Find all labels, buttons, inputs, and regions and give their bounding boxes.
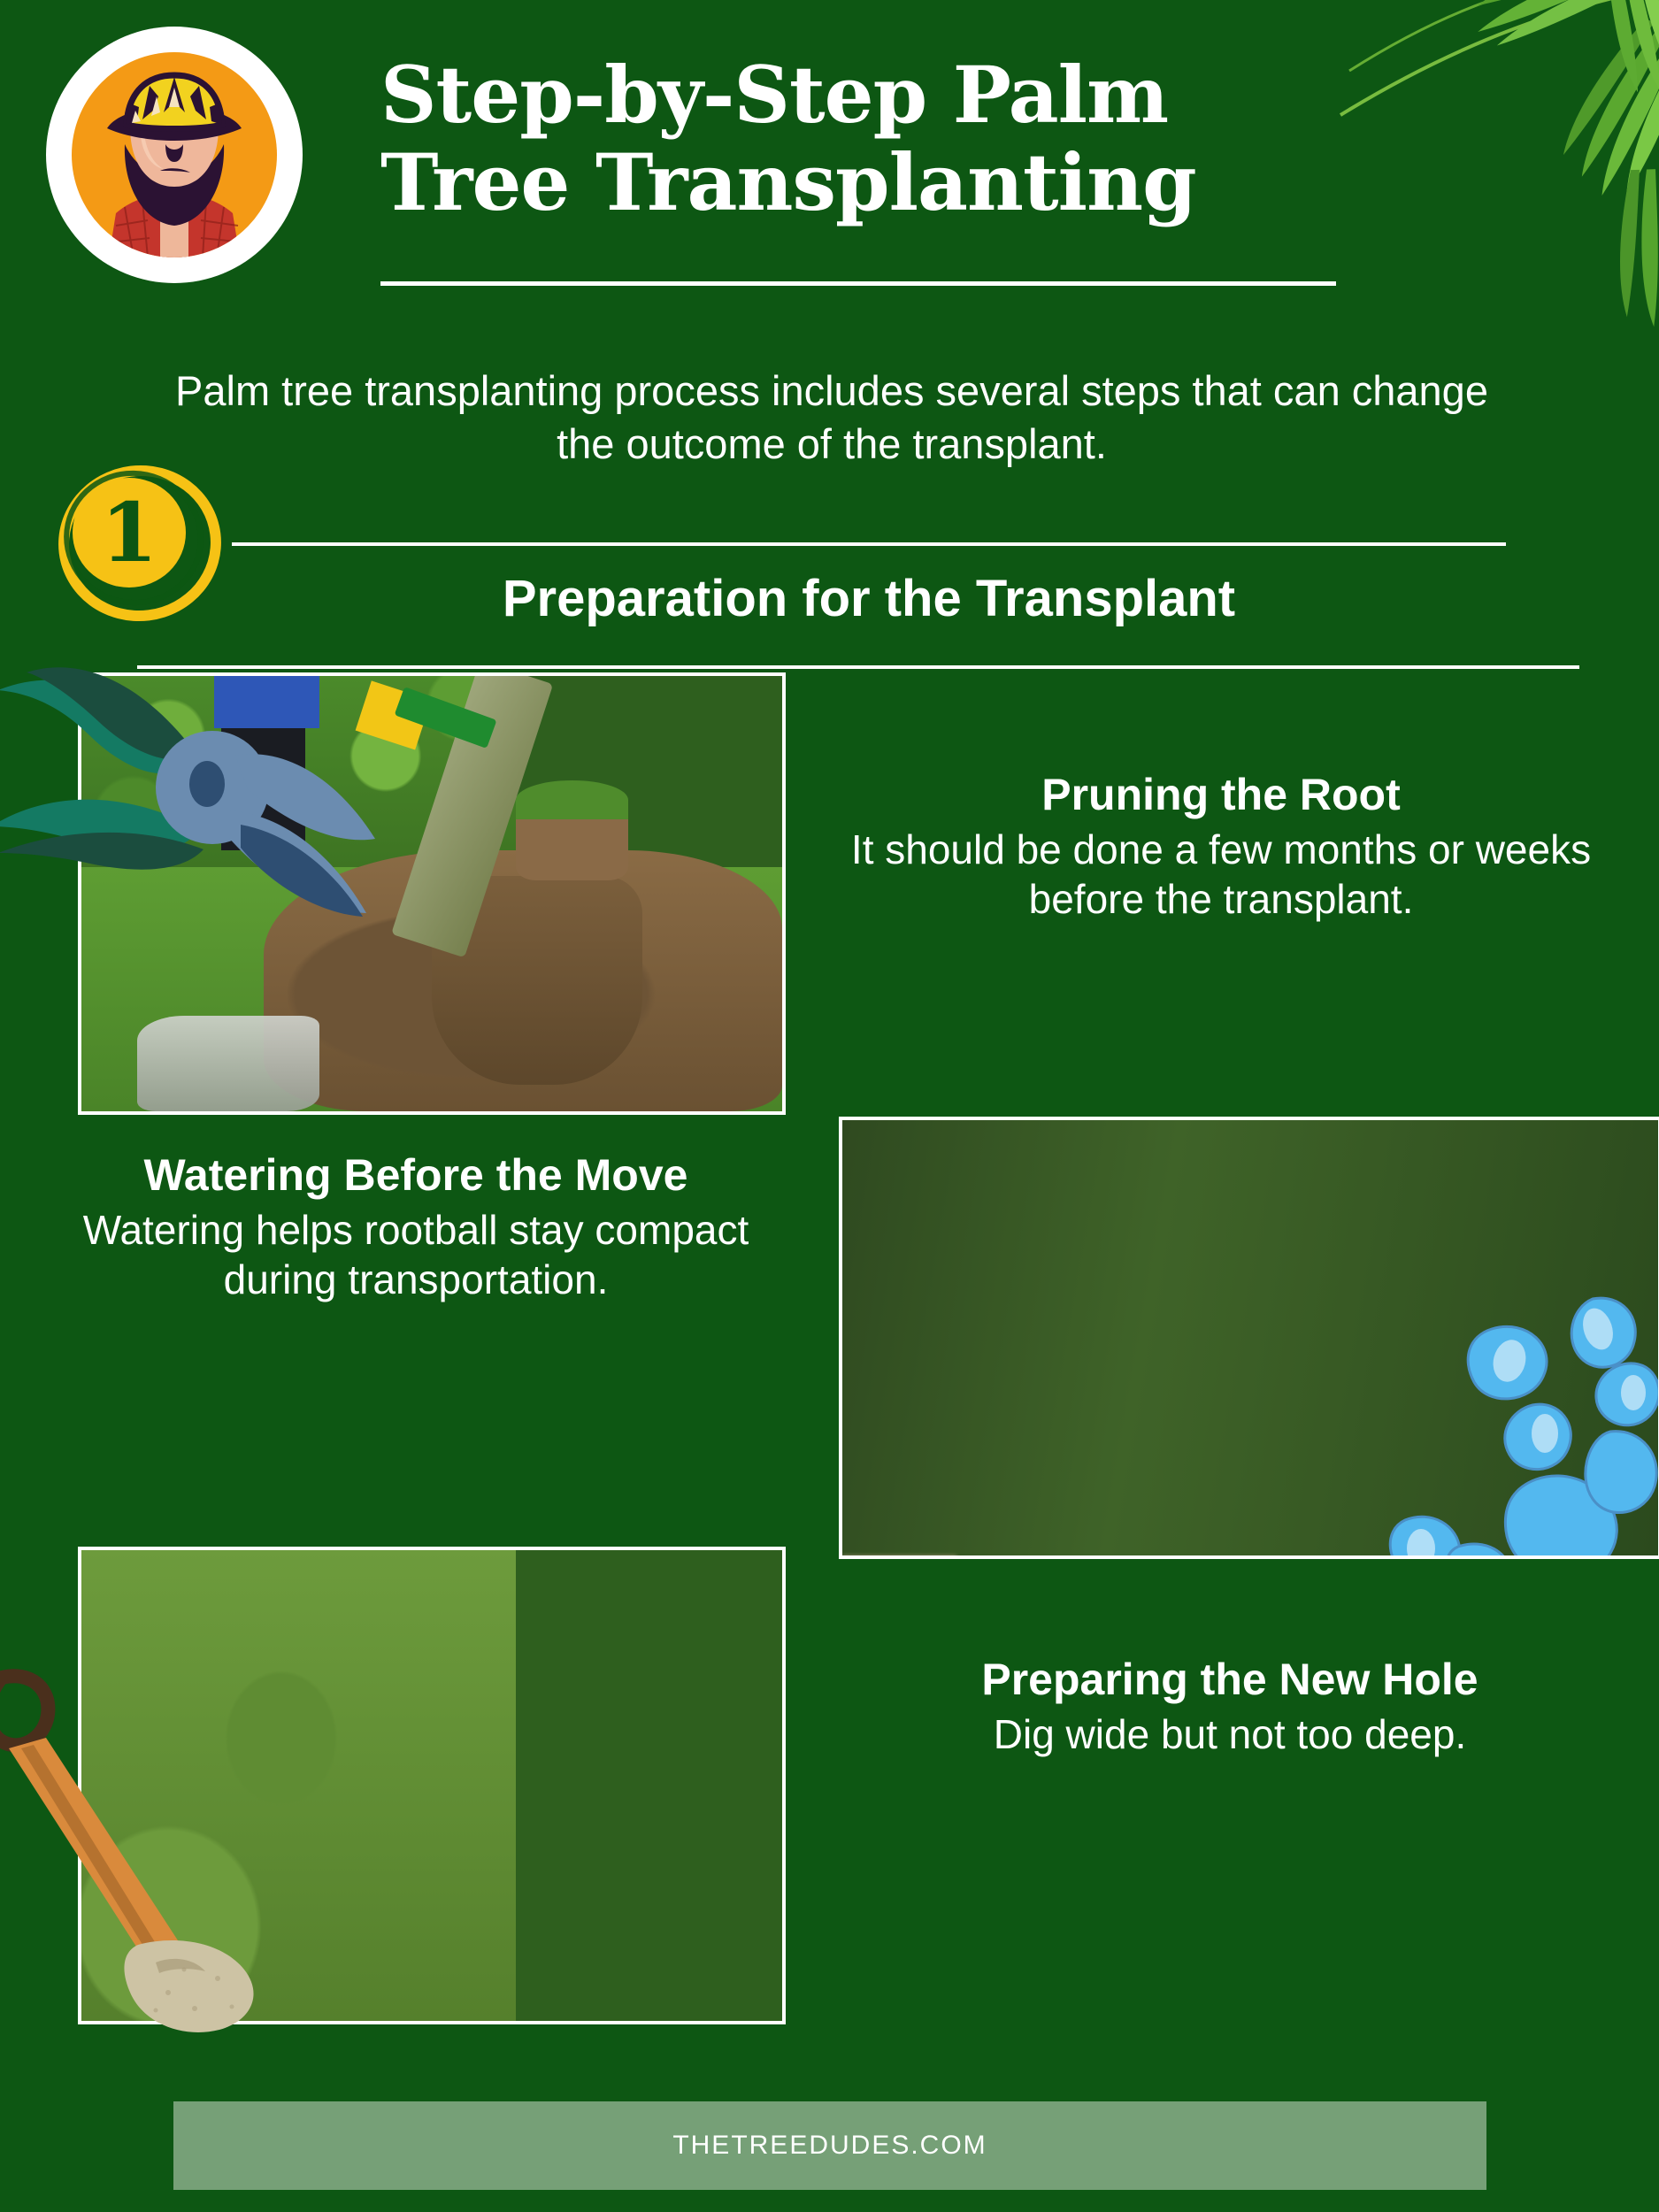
title-line-2: Tree Transplanting	[380, 139, 1336, 227]
block-3-text: Preparing the New Hole Dig wide but not …	[805, 1655, 1655, 1759]
title-underline	[380, 281, 1336, 286]
block-3-heading: Preparing the New Hole	[826, 1655, 1633, 1704]
grass-lawn	[81, 1550, 516, 2021]
lumberjack-mascot-icon	[72, 52, 277, 257]
greenhouse-backdrop	[842, 1120, 1658, 1555]
section-rule-top	[232, 542, 1506, 546]
step-number: 1	[73, 478, 186, 588]
brand-logo	[46, 27, 303, 283]
page-title: Step-by-Step Palm Tree Transplanting	[380, 51, 1336, 227]
block-2-heading: Watering Before the Move	[65, 1150, 766, 1200]
title-line-1: Step-by-Step Palm	[380, 51, 1336, 139]
block-2-text: Watering Before the Move Watering helps …	[44, 1150, 787, 1304]
block-2-body: Watering helps rootball stay compact dur…	[65, 1205, 766, 1304]
palm-tree-root-excavation-photo	[78, 672, 786, 1115]
block-1-heading: Pruning the Root	[818, 770, 1624, 819]
planter-foliage	[516, 780, 628, 819]
worker-shirt	[214, 676, 319, 728]
step-number-badge: 1	[51, 460, 211, 606]
section-title: Preparation for the Transplant	[232, 571, 1506, 627]
gardener-watering-can-photo	[839, 1117, 1659, 1559]
website-url[interactable]: THETREEDUDES.COM	[672, 2131, 987, 2161]
greenhouse-path	[842, 1555, 956, 1559]
digging-hole-with-shovel-photo	[78, 1547, 786, 2024]
page-subtitle: Palm tree transplanting process includes…	[150, 365, 1513, 471]
block-3-body: Dig wide but not too deep.	[826, 1709, 1633, 1759]
footer-bar: THETREEDUDES.COM	[173, 2101, 1486, 2190]
block-1-body: It should be done a few months or weeks …	[818, 825, 1624, 924]
block-1-text: Pruning the Root It should be done a few…	[796, 770, 1646, 924]
plastic-bag	[137, 1016, 319, 1111]
infographic-page: Step-by-Step Palm Tree Transplanting Pal…	[0, 0, 1659, 2212]
excavated-dirt	[81, 2021, 432, 2024]
section-rule-bottom	[137, 665, 1579, 669]
